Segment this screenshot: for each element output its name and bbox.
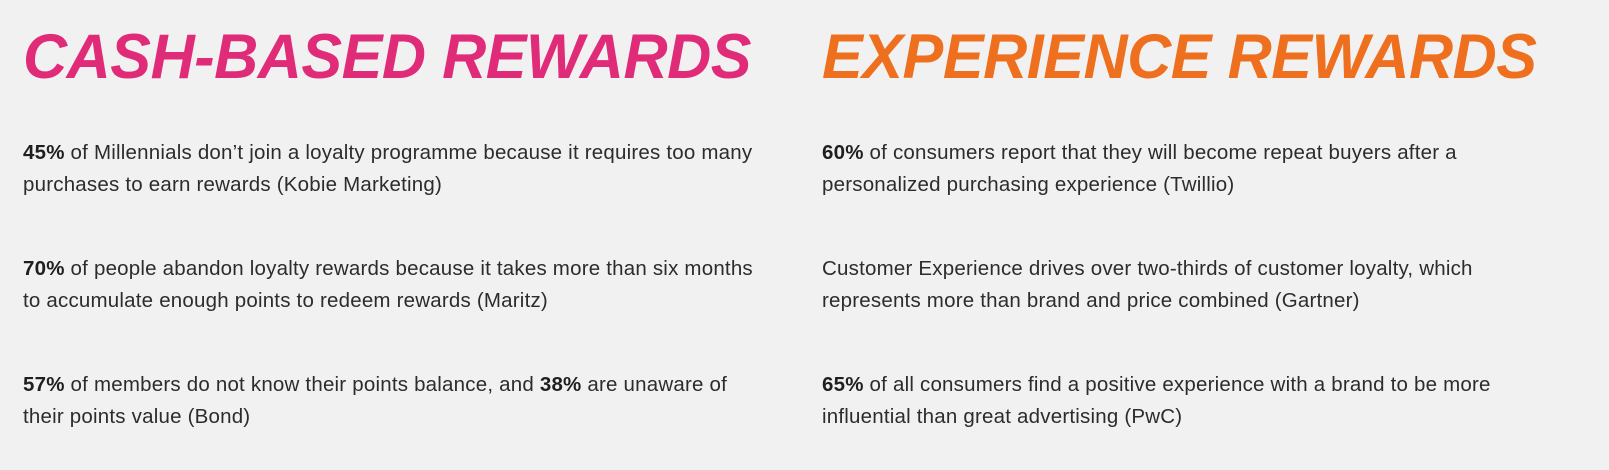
stats-list-experience-rewards: 60% of consumers report that they will b… [822,137,1574,433]
stat-text: Customer Experience drives over two-thir… [822,257,1473,312]
stat-item: 70% of people abandon loyalty rewards be… [23,253,760,317]
column-experience-rewards: EXPERIENCE REWARDS 60% of consumers repo… [800,0,1609,433]
stats-list-cash-based-rewards: 45% of Millennials don’t join a loyalty … [23,137,760,433]
stat-figure: 65% [822,373,864,396]
stat-figure: 57% [23,373,65,396]
column-cash-based-rewards: CASH-BASED REWARDS 45% of Millennials do… [0,0,800,433]
stat-figure: 45% [23,141,65,164]
stat-item: 45% of Millennials don’t join a loyalty … [23,137,760,201]
stat-item: Customer Experience drives over two-thir… [822,253,1574,317]
heading-cash-based-rewards: CASH-BASED REWARDS [23,26,738,89]
heading-experience-rewards: EXPERIENCE REWARDS [822,26,1551,89]
stat-figure: 70% [23,257,65,280]
stat-text: of all consumers find a positive experie… [822,373,1491,428]
stat-text: of consumers report that they will becom… [822,141,1457,196]
stat-figure-secondary: 38% [540,373,582,396]
stat-figure: 60% [822,141,864,164]
columns-container: CASH-BASED REWARDS 45% of Millennials do… [0,0,1609,470]
rewards-comparison-board: CASH-BASED REWARDS 45% of Millennials do… [0,0,1609,470]
stat-text: of Millennials don’t join a loyalty prog… [23,141,752,196]
stat-item: 57% of members do not know their points … [23,369,760,433]
stat-item: 65% of all consumers find a positive exp… [822,369,1574,433]
stat-text: of members do not know their points bala… [65,373,540,396]
stat-text: of people abandon loyalty rewards becaus… [23,257,753,312]
stat-item: 60% of consumers report that they will b… [822,137,1574,201]
